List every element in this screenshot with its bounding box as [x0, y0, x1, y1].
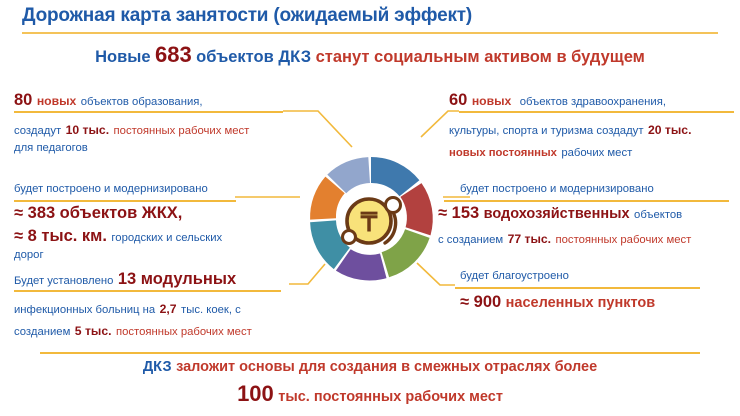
utilities-line-2: ≈ 8 тыс. км. городских и сельских — [14, 226, 274, 248]
infographic-root: Дорожная карта занятости (ожидаемый эффе… — [0, 0, 740, 416]
hospitals-lead-number: 13 модульных — [118, 270, 236, 288]
footer-number: 100 — [237, 381, 274, 406]
health-line-3-rest: рабочих мест — [561, 147, 632, 159]
hospitals-line-3-b: постоянных рабочих мест — [116, 326, 252, 338]
hospitals-line-3: созданием 5 тыс. постоянных рабочих мест — [14, 320, 299, 341]
health-number-word: новых — [472, 94, 512, 108]
settlements-number: ≈ 900 — [460, 293, 501, 311]
footer: ДКЗ заложит основы для создания в смежны… — [0, 358, 740, 407]
health-line-3: новых постоянных рабочих мест — [449, 141, 734, 162]
title-divider — [22, 32, 718, 34]
water-line-1-rest: объектов — [634, 209, 682, 221]
hospitals-line-2: инфекционных больниц на 2,7 тыс. коек, с — [14, 298, 299, 319]
tenge-symbol: ₸ — [360, 207, 378, 237]
health-line-1-rest: объектов здравоохранения, — [520, 96, 666, 108]
settlements-lead: будет благоустроено — [460, 269, 720, 284]
utilities-line-3: дорог — [14, 248, 274, 263]
footer-line-1: ДКЗ заложит основы для создания в смежны… — [0, 358, 740, 376]
education-number-word: новых — [37, 94, 77, 108]
subtitle: Новые 683 объектов ДКЗ станут социальным… — [0, 42, 740, 68]
settlements-divider — [455, 287, 700, 289]
footer-line-2: 100 тыс. постоянных рабочих мест — [0, 381, 740, 407]
footer-divider — [40, 352, 700, 354]
hospitals-line-3-number: 5 тыс. — [75, 324, 112, 338]
tenge-coin-svg: ₸ — [333, 181, 409, 257]
health-line-1: 60 новых объектов здравоохранения, — [449, 90, 734, 112]
health-line-3-a: новых постоянных — [449, 147, 557, 159]
education-line-2: создадут 10 тыс. постоянных рабочих мест — [14, 119, 289, 140]
settlements-callout: будет благоустроено ≈ 900 населенных пун… — [460, 269, 720, 314]
subtitle-prefix: Новые — [95, 48, 150, 66]
tenge-coin-icon: ₸ — [333, 181, 409, 257]
subtitle-middle: объектов ДКЗ — [196, 48, 311, 66]
hospitals-line-2-b: тыс. коек, с — [181, 304, 241, 316]
coin-bubble-top — [386, 198, 401, 213]
subtitle-number: 683 — [155, 42, 192, 67]
health-divider — [459, 111, 734, 113]
health-line-2-a: культуры, спорта и туризма создадут — [449, 125, 644, 137]
utilities-line-2-rest: городских и сельских — [111, 232, 222, 244]
utilities-lead: будет построено и модернизировано — [14, 182, 274, 197]
education-line-1: 80 новых объектов образования, — [14, 90, 289, 112]
water-line-1-mid: водохозяйственных — [484, 206, 630, 222]
water-line-2-b: постоянных рабочих мест — [556, 234, 692, 246]
water-callout: будет построено и модернизировано ≈ 153 … — [438, 182, 733, 249]
utilities-line-1-rest: объектов ЖКХ, — [60, 204, 183, 222]
education-line-2-number: 10 тыс. — [66, 123, 109, 137]
water-line-2-number: 77 тыс. — [508, 232, 551, 246]
coin-bubble-bottom — [343, 231, 356, 244]
education-line-2-a: создадут — [14, 125, 61, 137]
settlements-line-1: ≈ 900 населенных пунктов — [460, 292, 720, 314]
hospitals-divider — [14, 290, 281, 292]
utilities-divider — [14, 200, 236, 202]
education-divider — [14, 111, 283, 113]
footer-line-2-rest: тыс. постоянных рабочих мест — [278, 389, 503, 405]
hospitals-line-2-number: 2,7 — [160, 302, 177, 316]
hospitals-callout: Будет установлено 13 модульных инфекцион… — [14, 269, 299, 341]
health-number: 60 — [449, 91, 467, 109]
utilities-callout: будет построено и модернизировано ≈ 383 … — [14, 182, 274, 263]
page-title: Дорожная карта занятости (ожидаемый эффе… — [22, 5, 472, 27]
hospitals-line-3-a: созданием — [14, 326, 70, 338]
health-callout: 60 новых объектов здравоохранения, культ… — [449, 90, 734, 162]
subtitle-suffix: станут социальным активом в будущем — [316, 48, 645, 66]
water-line-1: ≈ 153 водохозяйственных объектов — [438, 203, 733, 225]
utilities-line-2-number: ≈ 8 тыс. км. — [14, 227, 107, 245]
education-line-1-rest: объектов образования, — [81, 96, 203, 108]
settlements-line-1-rest: населенных пунктов — [506, 295, 656, 311]
education-line-3: для педагогов — [14, 141, 289, 156]
education-number: 80 — [14, 91, 32, 109]
water-divider — [444, 200, 729, 202]
hospitals-line-2-a: инфекционных больниц на — [14, 304, 155, 316]
utilities-line-1-number: ≈ 383 — [14, 204, 55, 222]
education-line-2-b: постоянных рабочих мест — [114, 125, 250, 137]
hospitals-line-1: Будет установлено 13 модульных — [14, 269, 299, 291]
footer-line-1-a: ДКЗ — [143, 359, 172, 375]
health-line-2: культуры, спорта и туризма создадут 20 т… — [449, 119, 734, 140]
hospitals-lead-a: Будет установлено — [14, 275, 113, 287]
utilities-line-1: ≈ 383 объектов ЖКХ, — [14, 203, 274, 225]
water-line-2: с созданием 77 тыс. постоянных рабочих м… — [438, 228, 733, 249]
water-lead: будет построено и модернизировано — [460, 182, 733, 197]
footer-line-1-b: заложит основы для создания в смежных от… — [176, 359, 597, 375]
education-callout: 80 новых объектов образования, создадут … — [14, 90, 289, 156]
health-line-2-number: 20 тыс. — [648, 123, 691, 137]
